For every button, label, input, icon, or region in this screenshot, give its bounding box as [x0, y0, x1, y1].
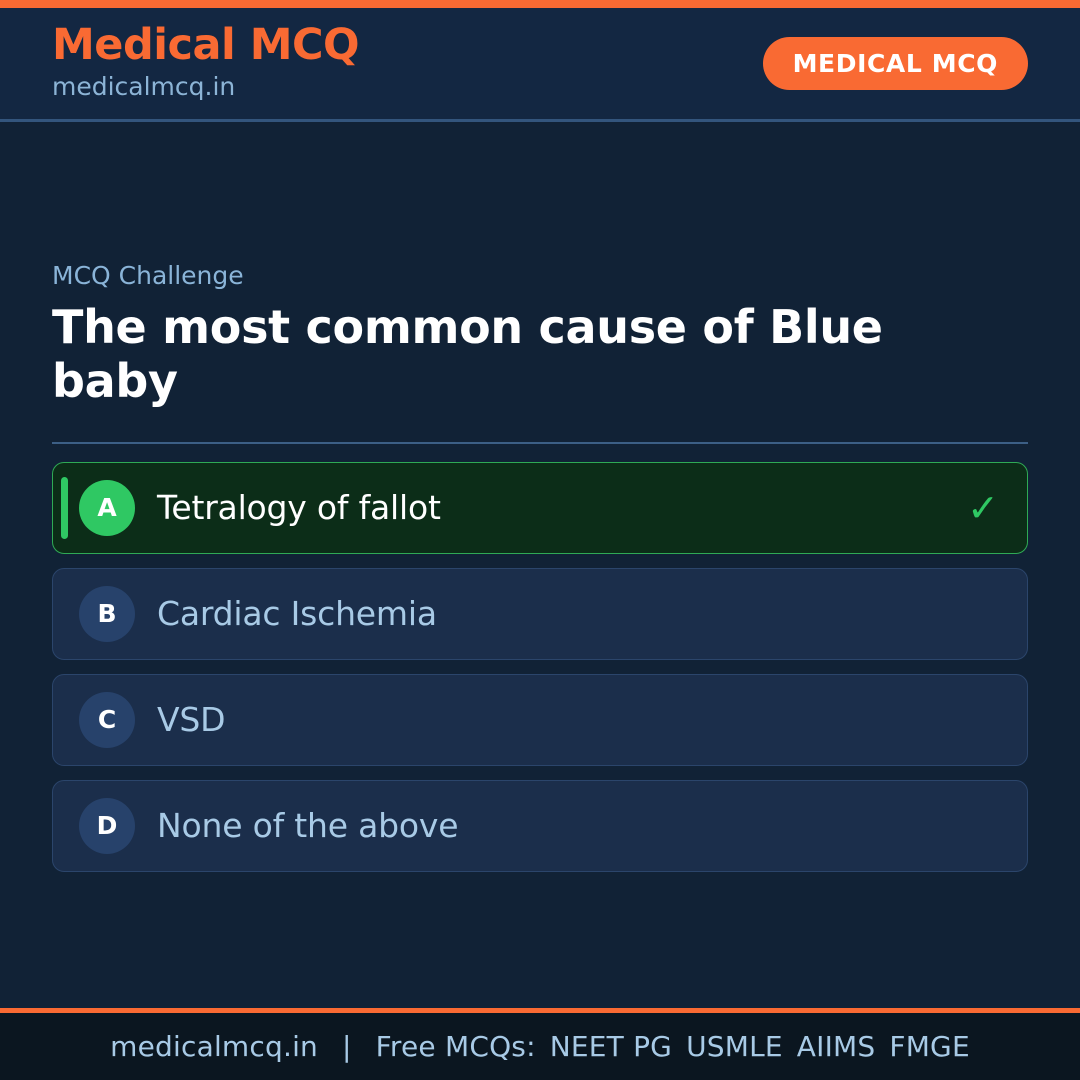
option-row-b[interactable]: B Cardiac Ischemia ✓ — [52, 568, 1028, 660]
footer-tag-aiims[interactable]: AIIMS — [797, 1030, 876, 1063]
options-list: A Tetralogy of fallot ✓ B Cardiac Ischem… — [52, 462, 1028, 872]
question-title: The most common cause of Blue baby — [52, 301, 1012, 408]
option-row-d[interactable]: D None of the above ✓ — [52, 780, 1028, 872]
question-kicker: MCQ Challenge — [52, 261, 1028, 291]
option-badge-c: C — [79, 692, 135, 748]
option-row-c[interactable]: C VSD ✓ — [52, 674, 1028, 766]
question-divider — [52, 442, 1028, 444]
footer-tag-neetpg[interactable]: NEET PG — [550, 1030, 672, 1063]
option-label-b: Cardiac Ischemia — [157, 596, 437, 632]
correct-accent-bar — [61, 477, 68, 539]
option-label-d: None of the above — [157, 808, 458, 844]
top-accent-bar — [0, 0, 1080, 8]
page-header: Medical MCQ medicalmcq.in MEDICAL MCQ — [0, 8, 1080, 122]
brand-block: Medical MCQ medicalmcq.in — [52, 23, 359, 102]
option-badge-a: A — [79, 480, 135, 536]
option-row-a[interactable]: A Tetralogy of fallot ✓ — [52, 462, 1028, 554]
page-footer: medicalmcq.in | Free MCQs: NEET PG USMLE… — [0, 1008, 1080, 1080]
option-label-a: Tetralogy of fallot — [157, 490, 441, 526]
option-badge-b: B — [79, 586, 135, 642]
question-block: MCQ Challenge The most common cause of B… — [52, 261, 1028, 408]
footer-label: Free MCQs: — [376, 1030, 536, 1063]
footer-tag-fmge[interactable]: FMGE — [889, 1030, 969, 1063]
check-icon: ✓ — [967, 489, 999, 527]
footer-separator: | — [342, 1030, 352, 1063]
option-badge-d: D — [79, 798, 135, 854]
brand-subtitle: medicalmcq.in — [52, 71, 359, 102]
footer-bar: medicalmcq.in | Free MCQs: NEET PG USMLE… — [0, 1013, 1080, 1080]
brand-title: Medical MCQ — [52, 23, 359, 68]
header-badge[interactable]: MEDICAL MCQ — [763, 37, 1028, 90]
main-content: MCQ Challenge The most common cause of B… — [0, 125, 1080, 1008]
footer-site-link[interactable]: medicalmcq.in — [110, 1030, 318, 1063]
footer-tag-usmle[interactable]: USMLE — [686, 1030, 783, 1063]
option-label-c: VSD — [157, 702, 225, 738]
